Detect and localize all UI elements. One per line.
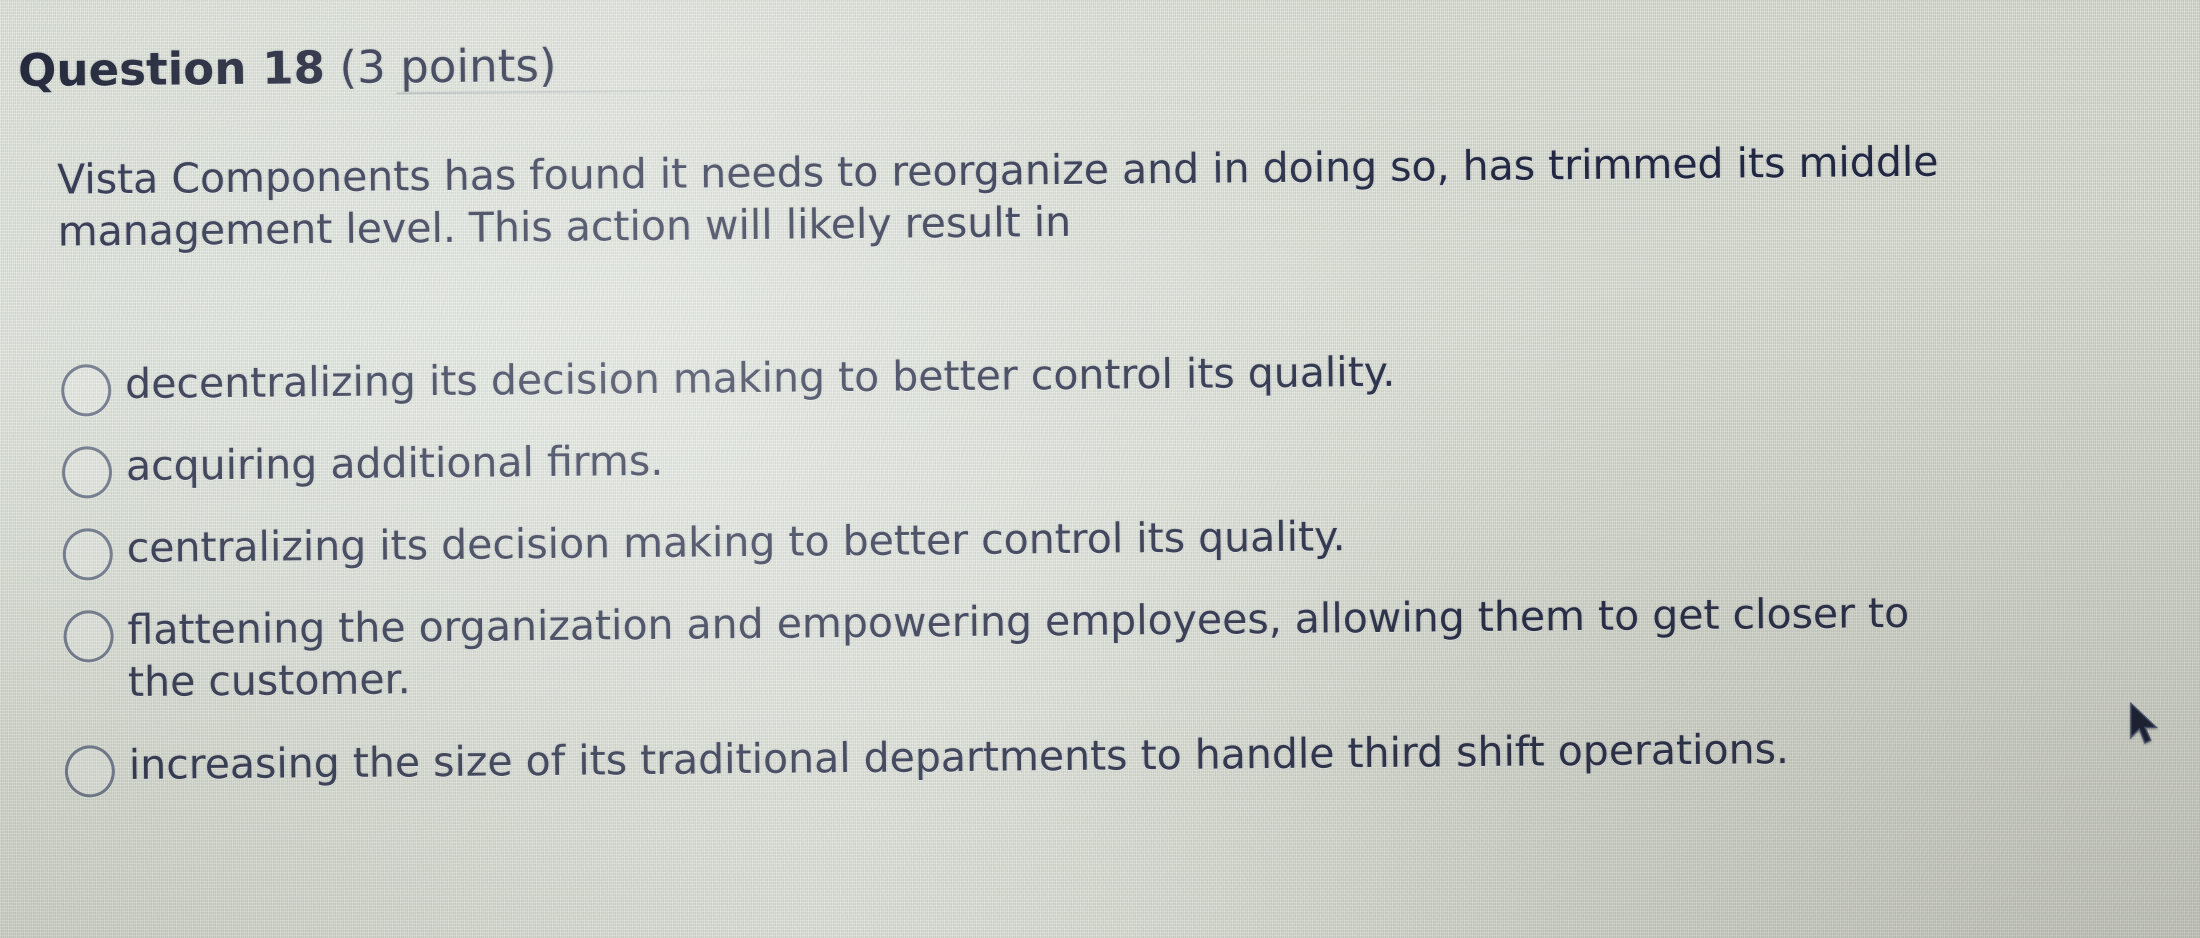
answer-option-label-d: flattening the organization and empoweri… xyxy=(127,587,1918,709)
question-header: Question 18 (3 points) xyxy=(18,39,557,97)
question-number: Question 18 xyxy=(18,41,325,97)
radio-button-icon-e[interactable] xyxy=(65,745,115,797)
answer-option-label-b: acquiring additional firms. xyxy=(126,435,664,493)
radio-button-icon-a[interactable] xyxy=(61,364,111,416)
question-body-text: Vista Components has found it needs to r… xyxy=(57,135,1988,258)
answer-option-label-c: centralizing its decision making to bett… xyxy=(126,510,1345,574)
quiz-screenshot: Question 18 (3 points) Vista Components … xyxy=(0,0,2200,938)
answer-option-label-e: increasing the size of its traditional d… xyxy=(129,723,1790,791)
question-points: (3 points) xyxy=(339,39,557,94)
answer-options-list: decentralizing its decision making to be… xyxy=(61,339,2065,821)
answer-option-c[interactable]: centralizing its decision making to bett… xyxy=(62,503,2062,580)
answer-option-d[interactable]: flattening the organization and empoweri… xyxy=(63,585,2064,709)
answer-option-label-a: decentralizing its decision making to be… xyxy=(125,346,1396,411)
answer-option-b[interactable]: acquiring additional firms. xyxy=(62,421,2062,498)
answer-option-a[interactable]: decentralizing its decision making to be… xyxy=(61,339,2061,416)
radio-button-icon-c[interactable] xyxy=(63,528,113,580)
radio-button-icon-b[interactable] xyxy=(62,446,112,498)
radio-button-icon-d[interactable] xyxy=(63,610,113,662)
answer-option-e[interactable]: increasing the size of its traditional d… xyxy=(65,720,2065,797)
question-content: Question 18 (3 points) Vista Components … xyxy=(0,0,2200,938)
